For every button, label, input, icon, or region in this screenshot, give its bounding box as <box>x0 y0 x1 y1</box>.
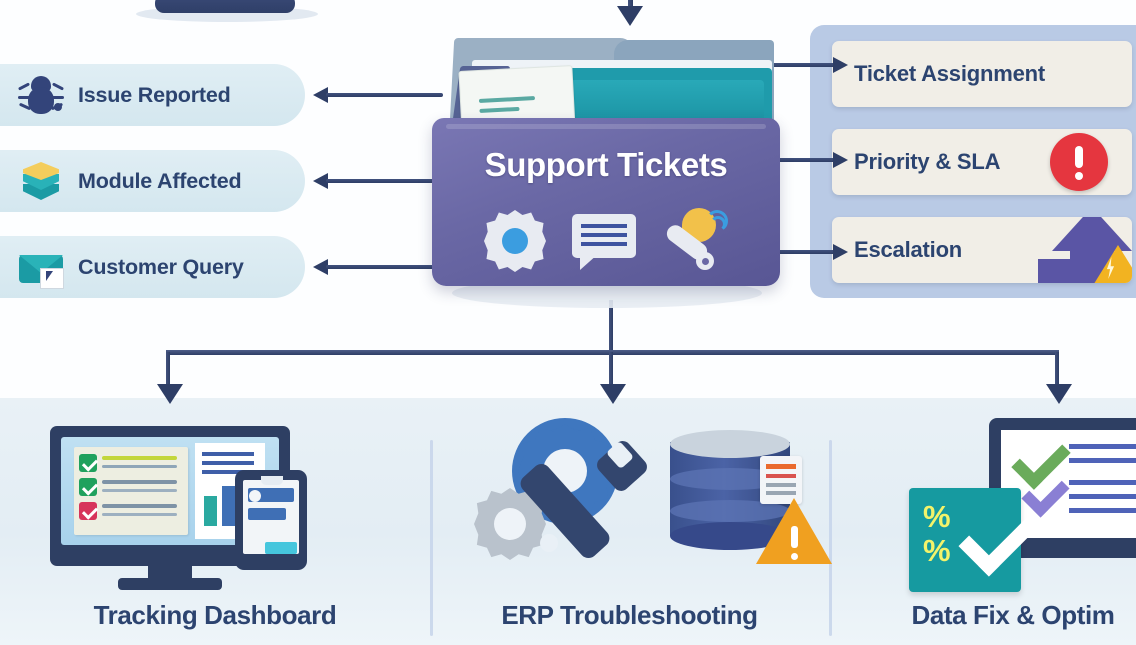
bottom-item-data-fix[interactable]: % % Data Fix & Optim <box>829 398 1136 645</box>
folder-title: Support Tickets <box>432 146 780 184</box>
output-label-2: Priority & SLA <box>832 149 1000 175</box>
input-pill-label-3: Customer Query <box>78 255 244 280</box>
bottom-item-tracking-dashboard[interactable]: Tracking Dashboard <box>0 398 430 645</box>
connector-arrowhead-1 <box>157 384 183 404</box>
output-label-1: Ticket Assignment <box>832 61 1045 87</box>
bug-icon <box>16 72 66 118</box>
layers-icon <box>16 158 66 204</box>
monitor-dashboard-icon <box>45 426 345 576</box>
input-pill-issue-reported[interactable]: Issue Reported <box>0 64 305 126</box>
chat-bubble-icon <box>572 210 636 272</box>
output-label-3: Escalation <box>832 237 962 263</box>
gears-wrench-database-icon <box>460 416 820 576</box>
diagram-canvas: Tracking Dashboard <box>0 0 1136 645</box>
top-cutoff-bar <box>155 0 295 13</box>
gear-icon <box>484 210 546 272</box>
connector-drop-2 <box>609 352 613 388</box>
laptop-checklist-percent-icon: % % <box>919 418 1136 578</box>
bottom-label-1: Tracking Dashboard <box>0 600 430 631</box>
support-headset-icon <box>662 208 728 274</box>
escalation-arrow-icon <box>1030 217 1132 283</box>
folder-lip <box>446 124 766 129</box>
bottom-item-erp-troubleshooting[interactable]: ERP Troubleshooting <box>430 398 829 645</box>
connector-arrowhead-2 <box>600 384 626 404</box>
outputs-panel: Ticket Assignment Priority & SLA Escalat… <box>810 25 1136 298</box>
folder-body: Support Tickets <box>432 118 780 286</box>
input-pill-label-2: Module Affected <box>78 169 241 194</box>
output-card-priority-sla[interactable]: Priority & SLA <box>832 129 1132 195</box>
alert-circle-icon <box>1050 133 1108 191</box>
connector-drop-3 <box>1055 352 1059 388</box>
output-card-ticket-assignment[interactable]: Ticket Assignment <box>832 41 1132 107</box>
input-pill-label-1: Issue Reported <box>78 83 231 108</box>
connector-arrowhead-3 <box>1046 384 1072 404</box>
bottom-label-2: ERP Troubleshooting <box>430 600 829 631</box>
connector-drop-1 <box>166 352 170 388</box>
bottom-label-3: Data Fix & Optim <box>829 600 1136 631</box>
input-pill-customer-query[interactable]: Customer Query <box>0 236 305 298</box>
support-tickets-folder[interactable]: Support Tickets <box>424 20 788 310</box>
input-pill-module-affected[interactable]: Module Affected <box>0 150 305 212</box>
output-card-escalation[interactable]: Escalation <box>832 217 1132 283</box>
email-cursor-icon <box>16 244 66 290</box>
